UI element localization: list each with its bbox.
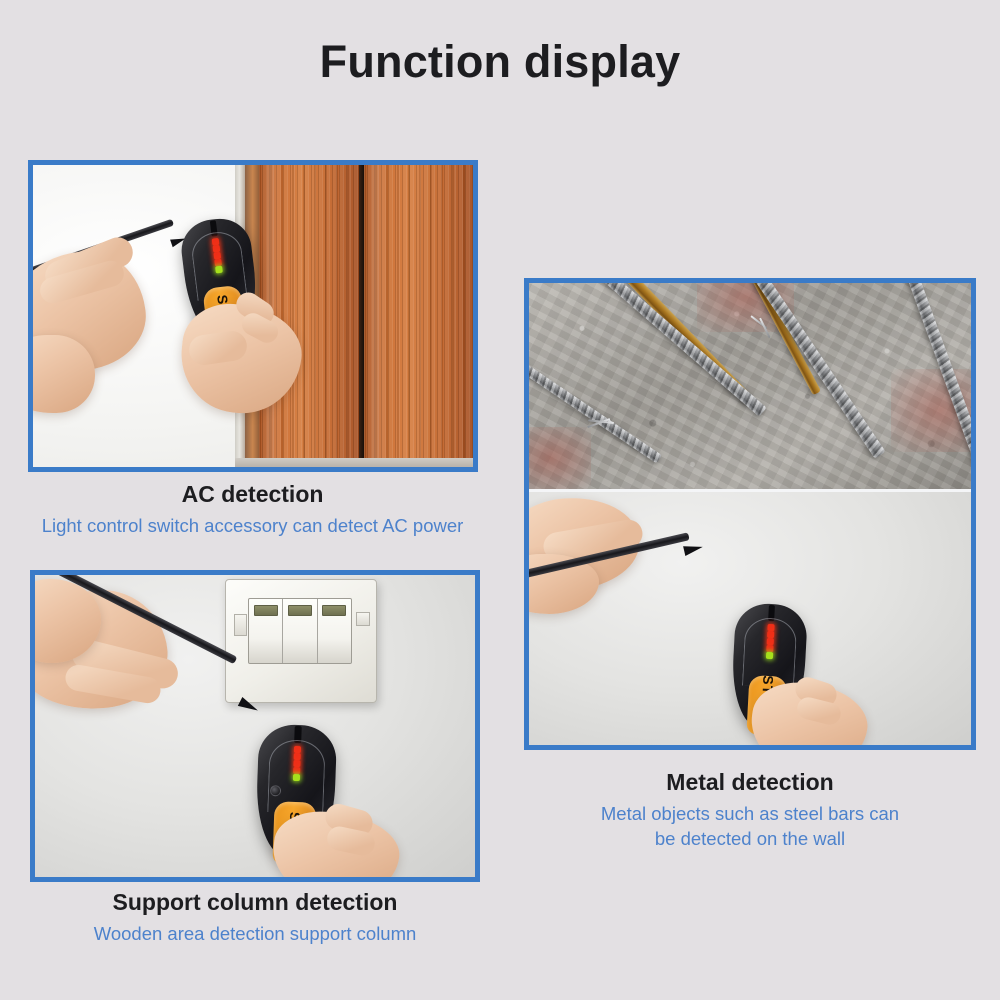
caption-metal-detection: Metal detection Metal objects such as st…	[524, 768, 976, 852]
switch-label-window	[254, 605, 278, 616]
led-green-1	[766, 651, 773, 658]
device-led-array	[293, 746, 301, 781]
photo-rebar-concrete	[529, 283, 971, 489]
plate-side-tab-left	[234, 614, 247, 636]
wood-door-panel-right	[364, 165, 473, 467]
wall-switch-plate[interactable]	[225, 579, 377, 703]
switch-rocker-3[interactable]	[318, 599, 351, 663]
panel-metal-detection: STUD FI	[524, 278, 976, 750]
led-red-4	[766, 644, 773, 651]
caption-support-column-detection: Support column detection Wooden area det…	[30, 888, 480, 947]
led-red-1	[767, 623, 774, 630]
caption-subtitle-support: Wooden area detection support column	[30, 922, 480, 947]
concrete-stain	[529, 427, 591, 489]
photo-metal-wall-detection: STUD FI	[529, 492, 971, 745]
caption-title-ac: AC detection	[0, 480, 505, 509]
door-highlight	[372, 165, 389, 467]
switch-label-window	[322, 605, 346, 616]
caption-title-support: Support column detection	[30, 888, 480, 917]
caption-ac-detection: AC detection Light control switch access…	[0, 480, 505, 539]
photo-ac-detection: STUD	[33, 165, 473, 467]
switch-label-window	[288, 605, 312, 616]
led-green-1	[293, 774, 300, 781]
switch-rocker-group[interactable]	[248, 598, 352, 664]
panel-support-column-detection: STUD	[30, 570, 480, 882]
page-title: Function display	[0, 36, 1000, 88]
plate-side-tab-right	[356, 612, 370, 626]
photo-support-column-detection: STUD	[35, 575, 475, 877]
switch-rocker-1[interactable]	[249, 599, 283, 663]
caption-subtitle-ac: Light control switch accessory can detec…	[0, 514, 505, 539]
caption-title-metal: Metal detection	[524, 768, 976, 797]
panel-ac-detection: STUD	[28, 160, 478, 472]
led-red-2	[767, 630, 774, 637]
led-green-1	[215, 266, 223, 274]
led-red-3	[767, 637, 774, 644]
floor-strip	[235, 458, 473, 467]
switch-rocker-2[interactable]	[283, 599, 317, 663]
caption-subtitle-metal: Metal objects such as steel bars can be …	[524, 802, 976, 852]
